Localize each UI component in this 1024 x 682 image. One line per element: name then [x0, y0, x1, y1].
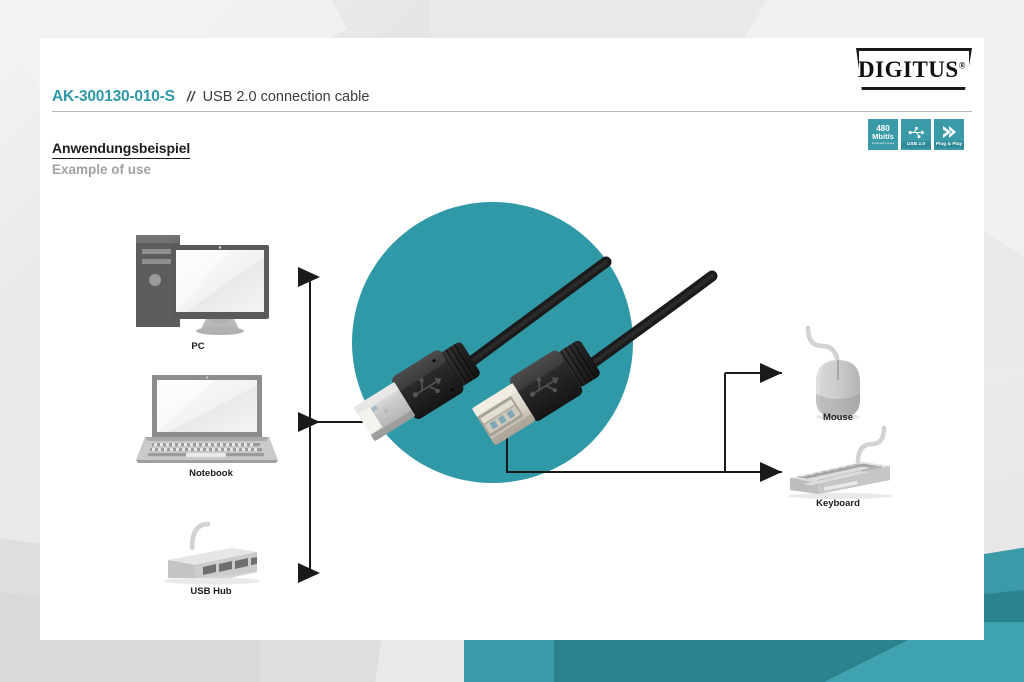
device-keyboard [788, 428, 892, 499]
application-diagram [0, 0, 1024, 682]
usb-cable-product [351, 262, 712, 448]
label-pc: PC [168, 341, 228, 352]
label-keyboard: Keyboard [798, 498, 878, 509]
label-mouse: Mouse [798, 412, 878, 423]
device-usb-hub [164, 524, 260, 585]
device-notebook [136, 375, 278, 463]
device-pc [136, 235, 269, 335]
label-usb-hub: USB Hub [166, 586, 256, 597]
label-notebook: Notebook [166, 468, 256, 479]
datasheet-page: DIGITUS® AK-300130-010-S // USB 2.0 conn… [0, 0, 1024, 682]
device-mouse [808, 328, 860, 420]
